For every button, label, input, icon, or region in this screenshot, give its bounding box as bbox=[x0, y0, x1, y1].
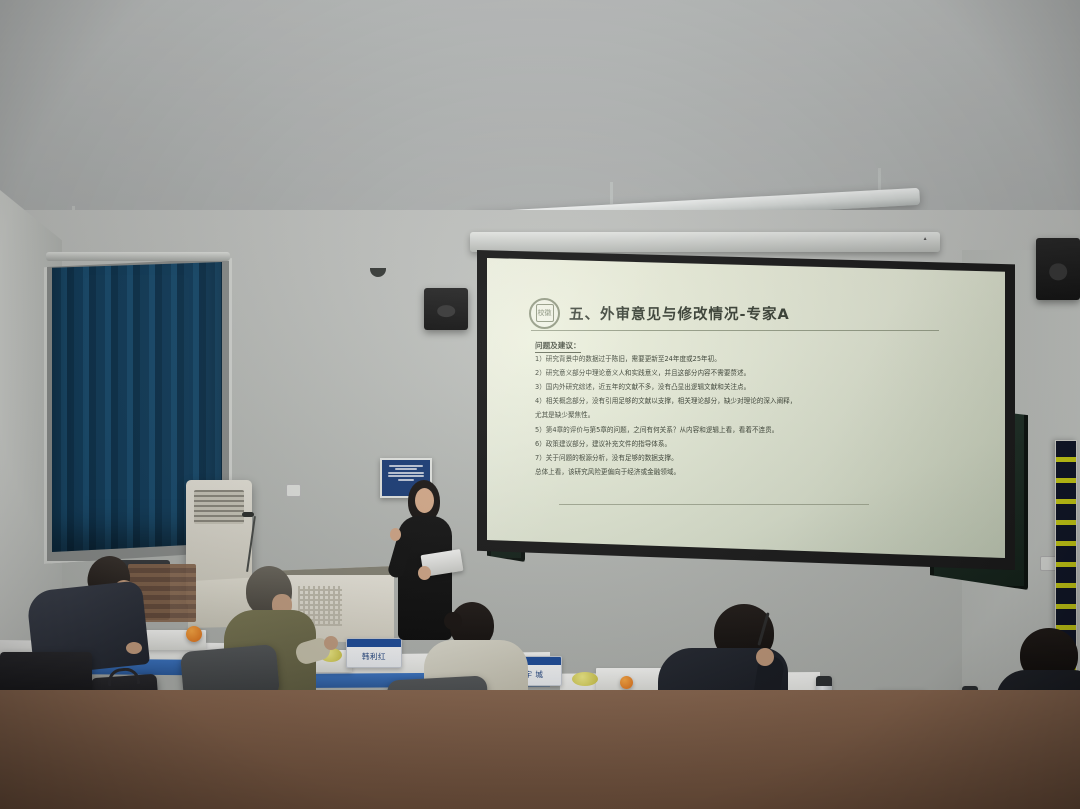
placard-header-bar bbox=[347, 639, 401, 647]
orange-fruit bbox=[620, 676, 633, 689]
slide-title-row: 校徽 五、外审意见与修改情况-专家A bbox=[529, 296, 949, 330]
attendee-hand bbox=[756, 648, 774, 666]
attendee-hand bbox=[126, 642, 142, 654]
projection-screen-case: ▲ bbox=[470, 232, 940, 252]
slide-subtitle: 问题及建议： bbox=[535, 340, 581, 353]
presenter-hand bbox=[390, 528, 401, 541]
attendee-hand bbox=[324, 636, 338, 650]
slide-line: 7）关于问题的根源分析，没有足够的数据支撑。 bbox=[535, 455, 955, 462]
seal-inner-glyph: 校徽 bbox=[536, 304, 554, 322]
placard-name: 韩利红 bbox=[347, 647, 401, 667]
slide-body: 1）研究背景中的数据过于陈旧，需要更新至24年度或25年初。 2）研究意义部分中… bbox=[535, 356, 955, 483]
wall-speaker bbox=[424, 288, 468, 330]
slide-line: 尤其是缺少聚焦性。 bbox=[535, 412, 955, 419]
slide-line: 总体上看，该研究风险更偏向于经济或金融领域。 bbox=[535, 469, 955, 476]
floor bbox=[0, 690, 1080, 809]
wall-speaker bbox=[1036, 238, 1080, 300]
slide-title: 五、外审意见与修改情况-专家A bbox=[569, 303, 790, 324]
presentation-slide: 校徽 五、外审意见与修改情况-专家A 问题及建议： 1）研究背景中的数据过于陈旧… bbox=[487, 258, 1005, 558]
light-stem bbox=[610, 182, 613, 204]
name-placard: 韩利红 bbox=[346, 638, 402, 668]
slide-line: 3）国内外研究综述，近五年的文献不多，没有凸显出逻辑文献和关注点。 bbox=[535, 384, 955, 391]
presenter-face bbox=[415, 488, 434, 513]
projection-screen: 校徽 五、外审意见与修改情况-专家A 问题及建议： 1）研究背景中的数据过于陈旧… bbox=[487, 258, 1005, 558]
microphone-head-icon bbox=[242, 512, 254, 517]
orange-fruit bbox=[186, 626, 202, 642]
hair-bun bbox=[444, 612, 462, 630]
slide-line: 2）研究意义部分中理论意义人和实践意义，并且这部分内容不需要赘述。 bbox=[535, 370, 955, 377]
presenter-hand bbox=[418, 566, 431, 580]
slide-footer-divider bbox=[559, 504, 869, 505]
slide-line: 4）相关概念部分，没有引用足够的文献以支撑，相关理论部分，缺少对理论的深入阐释， bbox=[535, 398, 955, 405]
ac-vent bbox=[194, 490, 244, 524]
wall-outlet[interactable] bbox=[286, 484, 301, 497]
classroom-photo: ▲ 校徽 五、外审意见与修改情况-专家A 问题及建议： 1）研究背景中的数据过于… bbox=[0, 0, 1080, 809]
fruit-cluster bbox=[572, 672, 598, 686]
slide-line: 1）研究背景中的数据过于陈旧，需要更新至24年度或25年初。 bbox=[535, 356, 955, 363]
slide-line: 5）第4章的评价与第5章的问题，之间有何关系？从内容和逻辑上看，看着不连贯。 bbox=[535, 427, 955, 434]
curtain-rod bbox=[46, 252, 230, 261]
slide-line: 6）政策建议部分，建议补充文件的指导体系。 bbox=[535, 441, 955, 448]
slide-title-divider bbox=[531, 330, 939, 331]
screen-brand-label: ▲ bbox=[923, 236, 928, 242]
university-seal-icon: 校徽 bbox=[529, 298, 560, 329]
